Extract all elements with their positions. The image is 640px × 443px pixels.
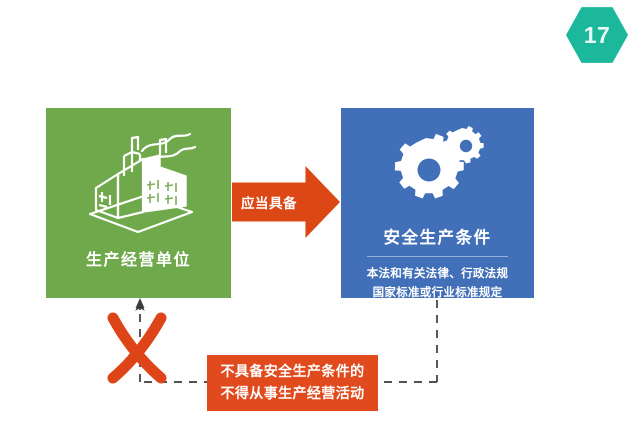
target-panel-title: 安全生产条件 [341, 224, 534, 248]
warning-box[interactable]: 不具备安全生产条件的 不得从事生产经营活动 [207, 355, 378, 411]
target-subtitle-line-1: 本法和有关法律、行政法规 [349, 265, 526, 284]
target-panel-subtitle: 本法和有关法律、行政法规 国家标准或行业标准规定 [349, 265, 526, 303]
panel-divider [367, 256, 508, 257]
factory-icon [46, 126, 231, 234]
page-number-label: 17 [566, 6, 628, 64]
warning-line-1: 不具备安全生产条件的 [221, 361, 365, 383]
requirement-arrow[interactable]: 应当具备 [232, 166, 340, 238]
slide-canvas: 17 [0, 0, 640, 443]
source-panel-title: 生产经营单位 [46, 246, 231, 270]
source-panel[interactable]: 生产经营单位 [46, 108, 231, 298]
red-x-icon [104, 312, 170, 384]
warning-line-2: 不得从事生产经营活动 [221, 383, 365, 405]
arrow-label: 应当具备 [232, 166, 306, 238]
target-panel[interactable]: 安全生产条件 本法和有关法律、行政法规 国家标准或行业标准规定 [341, 108, 534, 298]
target-subtitle-line-2: 国家标准或行业标准规定 [349, 284, 526, 303]
dash-arrow-head-icon [136, 298, 145, 308]
page-number-badge: 17 [566, 6, 628, 64]
gears-icon [341, 124, 534, 204]
